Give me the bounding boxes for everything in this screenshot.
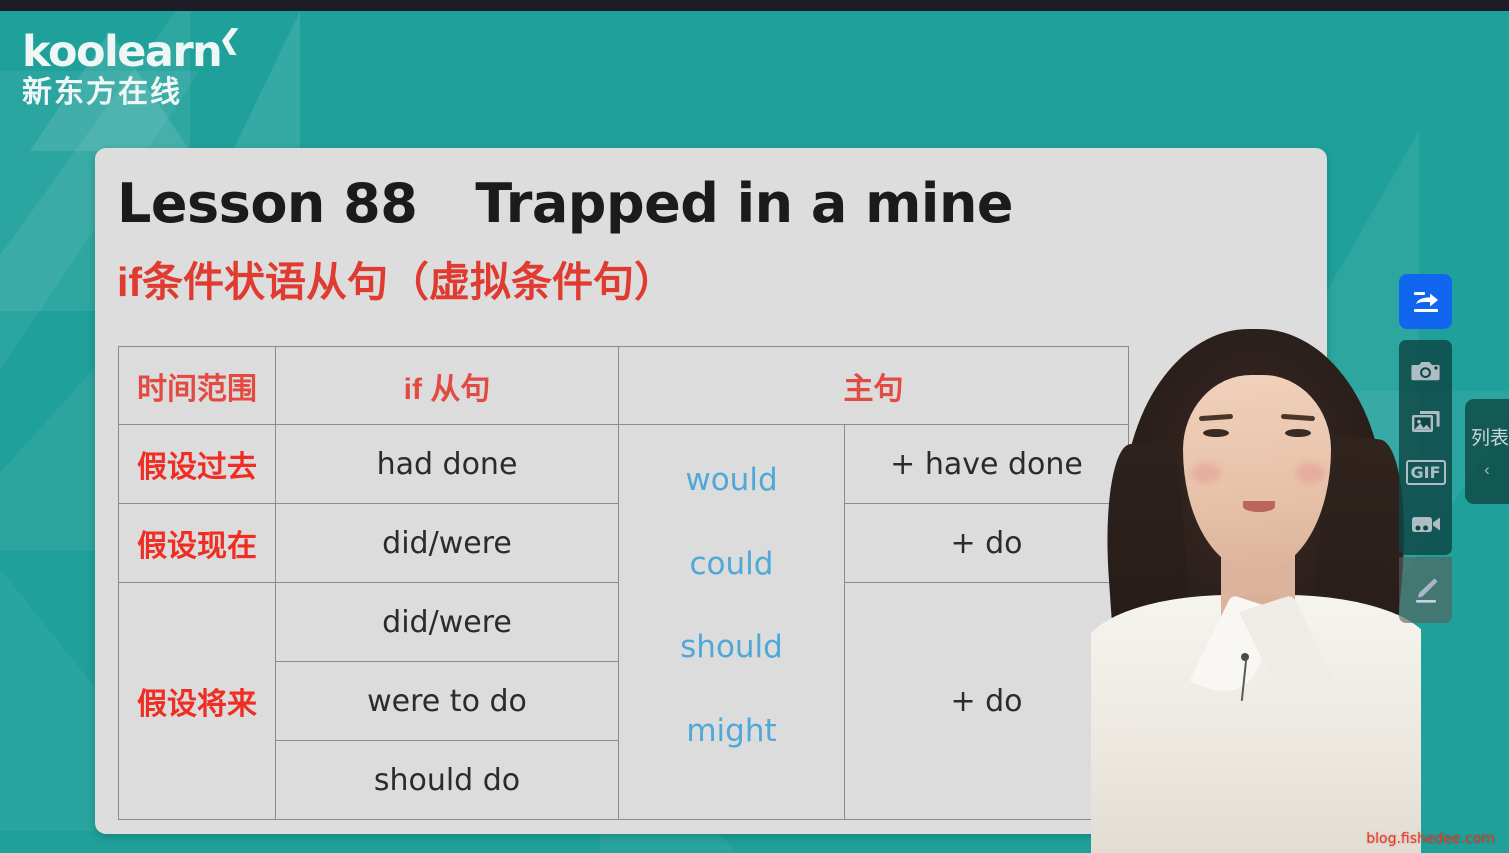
slide-title-topic: Trapped in a mine	[475, 172, 1013, 235]
presenter-eye	[1285, 429, 1311, 437]
presenter-video-overlay	[1091, 323, 1421, 853]
gallery-button[interactable]	[1406, 404, 1446, 440]
logo-wordmark: koolearn	[22, 31, 221, 74]
cell-if-clause: did/were	[276, 504, 619, 583]
annotate-button[interactable]	[1399, 557, 1452, 623]
header-if-clause: if 从句	[276, 347, 619, 425]
camera-icon	[1411, 359, 1441, 383]
cell-time-range: 假设过去	[119, 425, 276, 504]
site-watermark: blog.fishedee.com	[1366, 831, 1495, 847]
logo-chinese-name: 新东方在线	[22, 78, 221, 108]
cell-if-clause: had done	[276, 425, 619, 504]
window-top-bar	[0, 0, 1509, 11]
table-row: 假设过去 had done would could should might +…	[119, 425, 1129, 504]
gif-capture-button[interactable]: GIF	[1406, 455, 1446, 491]
images-icon	[1411, 409, 1441, 435]
chevron-left-icon: ‹	[1484, 460, 1490, 480]
presenter-cheek	[1191, 463, 1221, 483]
table-header-row: 时间范围 if 从句 主句	[119, 347, 1129, 425]
video-camera-icon	[1411, 513, 1441, 535]
gif-icon: GIF	[1406, 460, 1446, 485]
presenter-eye	[1203, 429, 1229, 437]
cell-result: + do	[845, 583, 1129, 820]
pencil-icon	[1409, 573, 1443, 607]
modal-word: should	[619, 620, 844, 675]
capture-toolbar: GIF	[1399, 340, 1452, 555]
share-icon	[1410, 287, 1442, 317]
cell-if-clause: should do	[276, 741, 619, 820]
slide-title-lesson: Lesson 88	[117, 172, 417, 235]
lesson-list-flyout[interactable]: 列表 ‹	[1465, 399, 1509, 504]
slide-subtitle: if条件状语从句（虚拟条件句）	[117, 248, 675, 308]
cell-if-clause: did/were	[276, 583, 619, 662]
screenshot-button[interactable]	[1406, 353, 1446, 389]
video-player-canvas[interactable]: koolearn ❮ 新东方在线 Lesson 88Trapped in a m…	[0, 11, 1509, 853]
modal-word: would	[619, 453, 844, 508]
screen-root: koolearn ❮ 新东方在线 Lesson 88Trapped in a m…	[0, 0, 1509, 853]
cell-modal-group: would could should might	[619, 425, 845, 820]
header-main-clause: 主句	[619, 347, 1129, 425]
logo-caret-icon: ❮	[219, 25, 243, 52]
koolearn-logo: koolearn ❮ 新东方在线	[22, 31, 221, 108]
presenter-cheek	[1295, 463, 1325, 483]
modal-word: could	[619, 537, 844, 592]
lesson-list-label: 列表	[1465, 423, 1509, 450]
share-video-button[interactable]	[1399, 274, 1452, 329]
slide-title: Lesson 88Trapped in a mine	[117, 172, 1013, 235]
cell-time-range: 假设现在	[119, 504, 276, 583]
cell-if-clause: were to do	[276, 662, 619, 741]
cell-time-range-future: 假设将来	[119, 583, 276, 820]
header-time-range: 时间范围	[119, 347, 276, 425]
grammar-table: 时间范围 if 从句 主句 假设过去 had done would could …	[118, 346, 1129, 820]
modal-word: might	[619, 704, 844, 759]
record-video-button[interactable]	[1406, 506, 1446, 542]
cell-result: + do	[845, 504, 1129, 583]
presenter-mouth	[1243, 501, 1275, 512]
cell-result: + have done	[845, 425, 1129, 504]
